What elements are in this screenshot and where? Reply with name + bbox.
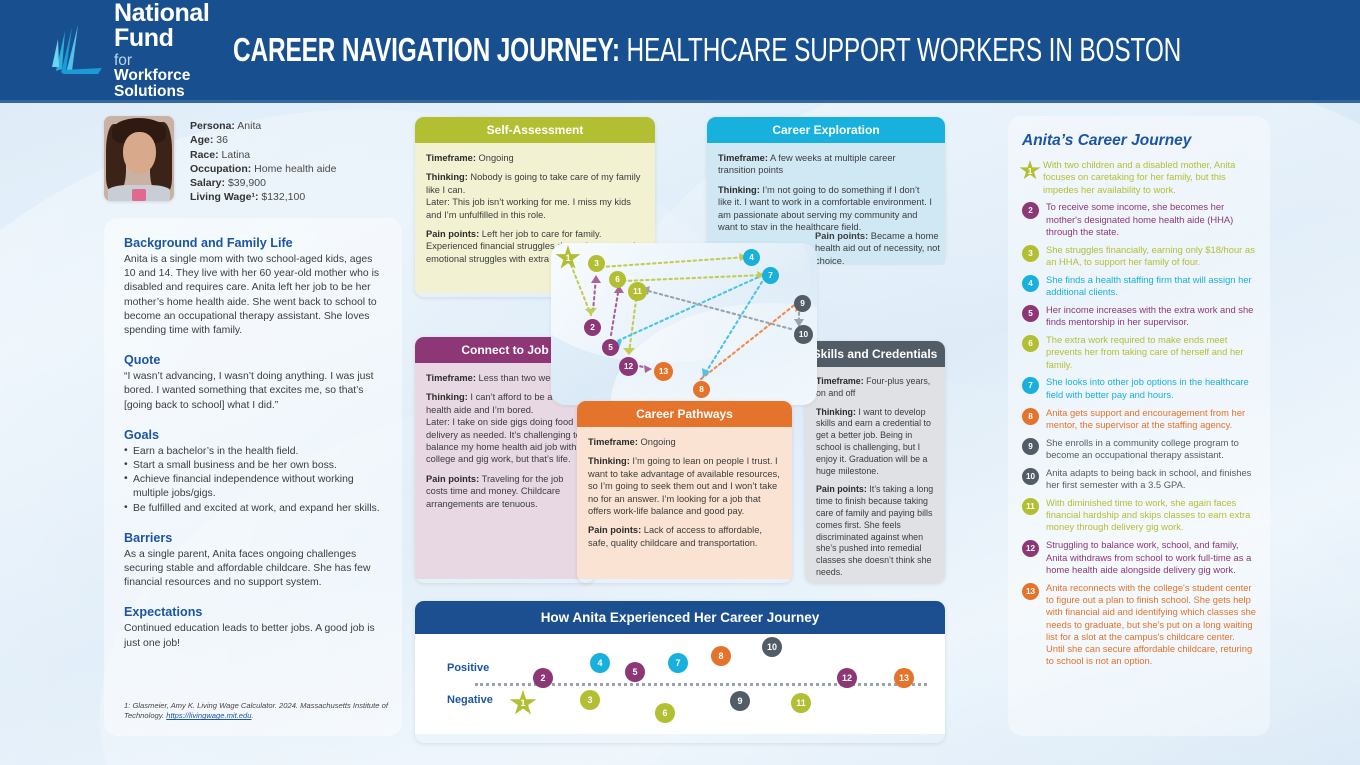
thinking-label: Thinking:: [718, 185, 760, 195]
timeframe-row: Timeframe: Ongoing: [426, 152, 644, 164]
page-header: National Fund for Workforce Solutions CA…: [0, 0, 1360, 100]
footnote: 1: Glasmeier, Amy K. Living Wage Calcula…: [124, 701, 396, 722]
logo-for-word: for: [114, 52, 132, 69]
persona-field-value: Latina: [219, 149, 251, 161]
experience-chart-title: How Anita Experienced Her Career Journey: [415, 601, 945, 634]
journey-step-text: To receive some income, she becomes her …: [1046, 201, 1256, 238]
map-node: 11: [628, 282, 647, 301]
journey-step-text: She looks into other job options in the …: [1046, 376, 1256, 401]
persona-field-label: Age:: [190, 134, 213, 146]
logo-workforce-solutions: Workforce Solutions: [114, 67, 190, 100]
goals-list: Earn a bachelor’s in the health field.St…: [124, 445, 382, 516]
chart-point: 7: [668, 653, 688, 673]
journey-step-text: Anita reconnects with the college's stud…: [1046, 582, 1256, 668]
journey-step-text: She struggles financially, earning only …: [1046, 244, 1256, 269]
persona-field-label: Race:: [190, 149, 219, 161]
pain-row: Pain points: Traveling for the job costs…: [426, 473, 584, 510]
journey-step-badge: 12: [1022, 540, 1039, 557]
pain-value: It’s taking a long time to finish becaus…: [816, 484, 933, 577]
map-node: 12: [619, 357, 638, 376]
card-career-pathways-title: Career Pathways: [577, 401, 792, 427]
chart-point: 9: [730, 691, 750, 711]
logo-text: National Fund for Workforce Solutions: [114, 1, 209, 100]
journey-step: 2To receive some income, she becomes her…: [1022, 201, 1256, 238]
timeframe-row: Timeframe: A few weeks at multiple caree…: [718, 152, 934, 177]
map-node: 5: [602, 339, 619, 356]
card-skills-and-credentials: Skills and Credentials Timeframe: Four-p…: [805, 341, 945, 583]
goal-item: Start a small business and be her own bo…: [124, 459, 382, 473]
thinking-row: Thinking: Nobody is going to take care o…: [426, 171, 644, 221]
thinking-label: Thinking:: [426, 172, 468, 182]
map-node: 13: [654, 362, 673, 381]
pain-label: Pain points:: [816, 484, 867, 494]
timeframe-label: Timeframe:: [816, 376, 864, 386]
career-journey-panel: Anita’s Career Journey 1With two childre…: [1008, 116, 1270, 736]
map-node: 10: [794, 325, 813, 344]
experience-chart-card: How Anita Experienced Her Career Journey…: [415, 601, 945, 743]
journey-step: 3She struggles financially, earning only…: [1022, 244, 1256, 269]
map-node: 4: [743, 249, 760, 266]
journey-step-badge: 2: [1022, 202, 1039, 219]
quote-text: “I wasn’t advancing, I wasn’t doing anyt…: [124, 370, 382, 413]
journey-step-text: The extra work required to make ends mee…: [1046, 334, 1256, 371]
career-journey-title: Anita’s Career Journey: [1022, 132, 1256, 150]
journey-map-diagram: 13611479102512138: [551, 243, 817, 405]
timeframe-value: Ongoing: [638, 437, 676, 447]
timeframe-row: Timeframe: Four-plus years, on and off: [816, 376, 934, 400]
journey-step: 13Anita reconnects with the college's st…: [1022, 582, 1256, 668]
page-title-light: HEALTHCARE SUPPORT WORKERS IN BOSTON: [620, 31, 1181, 68]
journey-step-badge: 10: [1022, 468, 1039, 485]
persona-field-value: $39,900: [225, 177, 266, 189]
map-node: 2: [584, 319, 601, 336]
chart-point: 11: [791, 693, 811, 713]
journey-step-badge: 7: [1022, 377, 1039, 394]
expectations-text: Continued education leads to better jobs…: [124, 622, 382, 650]
pain-label: Pain points:: [815, 231, 868, 241]
footnote-link[interactable]: https://livingwage.mit.edu: [166, 711, 251, 720]
journey-step-text: Anita gets support and encouragement fro…: [1046, 407, 1256, 432]
persona-field: Age: 36: [190, 133, 337, 147]
journey-step-text: With two children and a disabled mother,…: [1043, 159, 1256, 196]
expectations-heading: Expectations: [124, 605, 382, 619]
chart-label-positive: Positive: [447, 662, 489, 674]
timeframe-row: Timeframe: Ongoing: [588, 436, 781, 448]
goals-heading: Goals: [124, 428, 382, 442]
avatar: [104, 116, 174, 201]
map-node: 9: [794, 295, 811, 312]
chart-point: 4: [590, 653, 610, 673]
quote-heading: Quote: [124, 353, 382, 367]
journey-step-text: She enrolls in a community college progr…: [1046, 437, 1256, 462]
career-journey-list: 1With two children and a disabled mother…: [1022, 159, 1256, 668]
journey-step-text: With diminished time to work, she again …: [1046, 497, 1256, 534]
journey-step-text: Her income increases with the extra work…: [1046, 304, 1256, 329]
journey-step-text: Anita adapts to being back in school, an…: [1046, 467, 1256, 492]
chart-point: 3: [580, 690, 600, 710]
chart-point-star: 1: [509, 690, 537, 717]
journey-step: 12Struggling to balance work, school, an…: [1022, 539, 1256, 576]
journey-step-badge: 5: [1022, 305, 1039, 322]
card-self-assessment-title: Self-Assessment: [415, 117, 655, 143]
persona-card: Persona: AnitaAge: 36Race: LatinaOccupat…: [104, 116, 402, 208]
pain-label: Pain points:: [426, 229, 479, 239]
pain-row: Pain points: It’s taking a long time to …: [816, 484, 934, 578]
career-exploration-pain-points: Pain points: Became a home health aid ou…: [815, 230, 945, 267]
thinking-label: Thinking:: [426, 392, 468, 402]
journey-step-badge: 4: [1022, 275, 1039, 292]
persona-field: Salary: $39,900: [190, 176, 337, 190]
journey-step-badge: 6: [1022, 335, 1039, 352]
national-fund-logo-icon: [48, 21, 106, 79]
thinking-later: Later: This job isn’t working for me. I …: [426, 197, 631, 219]
journey-step-text: She finds a health staffing firm that wi…: [1046, 274, 1256, 299]
goal-item: Be fulfilled and excited at work, and ex…: [124, 502, 382, 516]
persona-field: Occupation: Home health aide: [190, 162, 337, 176]
map-node: 8: [693, 381, 710, 398]
journey-step: 8Anita gets support and encouragement fr…: [1022, 407, 1256, 432]
experience-chart-plot: Positive Negative 12345678910111213: [415, 634, 945, 734]
persona-details-panel: Background and Family Life Anita is a si…: [104, 218, 402, 736]
chart-point: 6: [655, 703, 675, 723]
card-skills-and-credentials-title: Skills and Credentials: [805, 341, 945, 367]
chart-label-negative: Negative: [447, 694, 493, 706]
journey-step-badge: 13: [1022, 583, 1039, 600]
pain-label: Pain points:: [426, 474, 479, 484]
goal-item: Achieve financial independence without w…: [124, 473, 382, 501]
pain-row: Pain points: Lack of access to affordabl…: [588, 524, 781, 549]
background-text: Anita is a single mom with two school-ag…: [124, 253, 382, 338]
logo-line-1: National Fund: [114, 1, 209, 51]
persona-field-value: 36: [213, 134, 228, 146]
persona-field-label: Persona:: [190, 120, 235, 132]
card-skills-and-credentials-body: Timeframe: Four-plus years, on and off T…: [805, 367, 945, 583]
journey-step-badge: 8: [1022, 408, 1039, 425]
persona-field-value: $132,100: [258, 191, 305, 203]
journey-step-badge: 3: [1022, 245, 1039, 262]
journey-step: 4She finds a health staffing firm that w…: [1022, 274, 1256, 299]
thinking-row: Thinking: I’m going to lean on people I …: [588, 455, 781, 517]
journey-step-text: Struggling to balance work, school, and …: [1046, 539, 1256, 576]
persona-field: Race: Latina: [190, 148, 337, 162]
footnote-tail: .: [251, 711, 253, 720]
persona-fields: Persona: AnitaAge: 36Race: LatinaOccupat…: [190, 116, 337, 208]
timeframe-label: Timeframe:: [718, 153, 768, 163]
card-career-pathways-body: Timeframe: Ongoing Thinking: I’m going t…: [577, 427, 792, 579]
chart-point: 5: [625, 662, 645, 682]
thinking-later: Later: I take on side gigs doing food de…: [426, 417, 581, 464]
barriers-text: As a single parent, Anita faces ongoing …: [124, 548, 382, 591]
goal-item: Earn a bachelor’s in the health field.: [124, 445, 382, 459]
map-node: 7: [762, 267, 779, 284]
logo: National Fund for Workforce Solutions: [48, 1, 209, 100]
persona-field: Living Wage¹: $132,100: [190, 190, 337, 204]
journey-step-badge: 11: [1022, 498, 1039, 515]
card-career-exploration-title: Career Exploration: [707, 117, 945, 143]
card-career-pathways: Career Pathways Timeframe: Ongoing Think…: [577, 401, 792, 583]
thinking-row: Thinking: I want to develop skills and e…: [816, 407, 934, 478]
barriers-heading: Barriers: [124, 531, 382, 545]
persona-field-label: Salary:: [190, 177, 225, 189]
page-title-bold: CAREER NAVIGATION JOURNEY:: [233, 31, 620, 68]
journey-step: 11With diminished time to work, she agai…: [1022, 497, 1256, 534]
thinking-label: Thinking:: [816, 407, 856, 417]
journey-step: 7She looks into other job options in the…: [1022, 376, 1256, 401]
timeframe-label: Timeframe:: [588, 437, 638, 447]
journey-step-badge: 9: [1022, 438, 1039, 455]
journey-step: 10Anita adapts to being back in school, …: [1022, 467, 1256, 492]
journey-step: 9She enrolls in a community college prog…: [1022, 437, 1256, 462]
persona-field-value: Home health aide: [251, 163, 336, 175]
persona-field-value: Anita: [235, 120, 261, 132]
thinking-label: Thinking:: [588, 456, 630, 466]
persona-field-label: Occupation:: [190, 163, 251, 175]
journey-step-star-badge: 1: [1019, 160, 1041, 181]
timeframe-label: Timeframe:: [426, 153, 476, 163]
map-node: 6: [609, 271, 626, 288]
thinking-row: Thinking: I’m not going to do something …: [718, 184, 934, 234]
journey-step: 5Her income increases with the extra wor…: [1022, 304, 1256, 329]
page-title: CAREER NAVIGATION JOURNEY: HEALTHCARE SU…: [233, 31, 1181, 69]
persona-field-label: Living Wage¹:: [190, 191, 258, 203]
journey-step: 6The extra work required to make ends me…: [1022, 334, 1256, 371]
footnote-text: 1: Glasmeier, Amy K. Living Wage Calcula…: [124, 701, 388, 721]
timeframe-value: Ongoing: [476, 153, 514, 163]
pain-label: Pain points:: [588, 525, 641, 535]
chart-point: 8: [711, 646, 731, 666]
background-heading: Background and Family Life: [124, 236, 382, 250]
logo-line-2: for Workforce Solutions: [114, 53, 209, 100]
journey-step: 1With two children and a disabled mother…: [1022, 159, 1256, 196]
persona-field: Persona: Anita: [190, 119, 337, 133]
timeframe-label: Timeframe:: [426, 373, 476, 383]
map-node: 3: [588, 255, 605, 272]
chart-point: 10: [762, 637, 782, 657]
header-divider: [0, 100, 1360, 103]
